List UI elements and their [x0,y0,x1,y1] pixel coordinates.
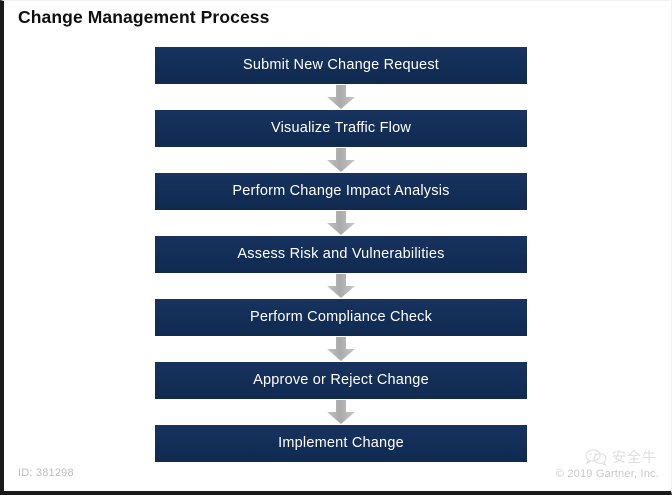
process-step-2: Visualize Traffic Flow [155,110,527,147]
down-arrow-icon [326,85,356,109]
wechat-icon [585,448,607,466]
flow-arrow-4 [155,273,527,299]
flow-arrow-5 [155,336,527,362]
flow-arrow-1 [155,84,527,110]
process-step-5: Perform Compliance Check [155,299,527,336]
process-box-perform-compliance-check[interactable]: Perform Compliance Check [155,299,527,336]
down-arrow-icon [326,400,356,424]
process-box-assess-risk-and-vulnerabilities[interactable]: Assess Risk and Vulnerabilities [155,236,527,273]
process-flow-diagram: Submit New Change Request Visualize Traf… [155,47,527,462]
copyright-notice: © 2019 Gartner, Inc. [556,468,659,480]
process-step-7: Implement Change [155,425,527,462]
slide-canvas: Change Management Process Submit New Cha… [0,0,672,495]
watermark-text: 安全牛 [612,447,657,467]
flow-arrow-2 [155,147,527,173]
process-step-1: Submit New Change Request [155,47,527,84]
down-arrow-icon [326,337,356,361]
flow-arrow-6 [155,399,527,425]
down-arrow-icon [326,148,356,172]
process-box-submit-new-change-request[interactable]: Submit New Change Request [155,47,527,84]
process-box-approve-or-reject-change[interactable]: Approve or Reject Change [155,362,527,399]
down-arrow-icon [326,211,356,235]
process-step-4: Assess Risk and Vulnerabilities [155,236,527,273]
slide-id-label: ID: 381298 [18,467,74,479]
watermark: 安全牛 [585,447,657,467]
process-box-visualize-traffic-flow[interactable]: Visualize Traffic Flow [155,110,527,147]
process-step-3: Perform Change Impact Analysis [155,173,527,210]
process-box-perform-change-impact-analysis[interactable]: Perform Change Impact Analysis [155,173,527,210]
down-arrow-icon [326,274,356,298]
process-step-6: Approve or Reject Change [155,362,527,399]
flow-arrow-3 [155,210,527,236]
process-box-implement-change[interactable]: Implement Change [155,425,527,462]
page-title: Change Management Process [18,7,269,28]
